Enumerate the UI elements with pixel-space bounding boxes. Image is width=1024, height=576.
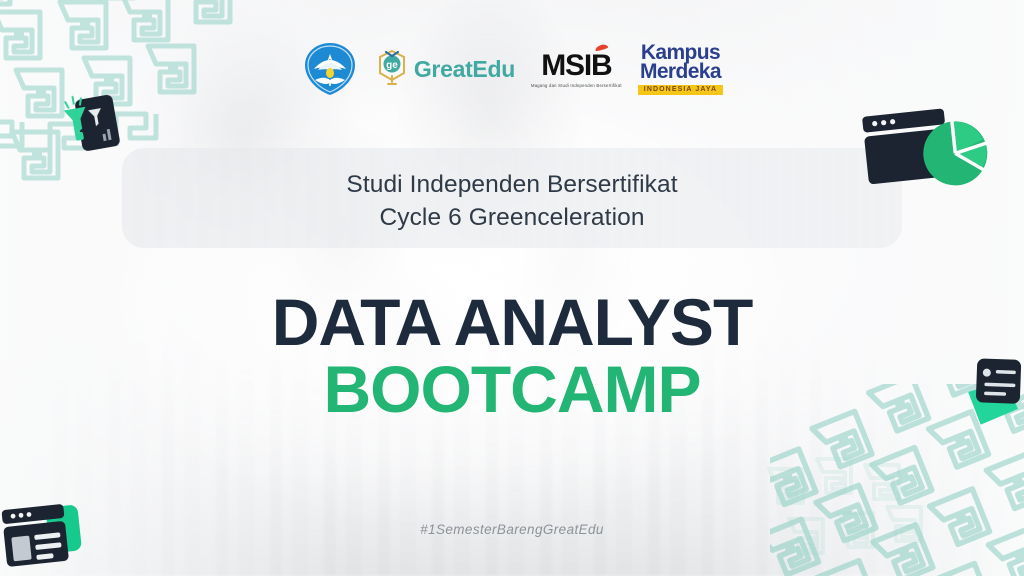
- subtitle-block: Studi Independen Bersertifikat Cycle 6 G…: [0, 168, 1024, 234]
- msib-label: MSIB: [541, 51, 611, 81]
- logo-msib: MSIB Magang dan Studi Independen Bersert…: [531, 51, 622, 88]
- greatedu-label: GreatEdu: [414, 56, 515, 83]
- headline-block: DATA ANALYST BOOTCAMP: [0, 288, 1024, 422]
- msib-wordmark: MSIB: [541, 49, 611, 82]
- kampus-merdeka-banner: INDONESIA JAYA: [638, 85, 723, 95]
- batik-pattern-bottom-right-faint: [766, 456, 946, 576]
- headline-line-2: BOOTCAMP: [0, 356, 1024, 422]
- poster-canvas: ge GreatEdu MSIB Magang dan Studi Indepe…: [0, 0, 1024, 576]
- subtitle-line-1: Studi Independen Bersertifikat: [0, 168, 1024, 201]
- subtitle-line-2: Cycle 6 Greenceleration: [0, 201, 1024, 234]
- greatedu-mark-icon: ge: [375, 48, 409, 90]
- logo-kampus-merdeka: Kampus Merdeka INDONESIA JAYA: [638, 43, 723, 95]
- kampus-merdeka-line2: Merdeka: [640, 62, 721, 81]
- svg-text:ge: ge: [386, 60, 398, 71]
- tut-wuri-handayani-icon: [301, 40, 359, 98]
- partner-logo-strip: ge GreatEdu MSIB Magang dan Studi Indepe…: [0, 40, 1024, 98]
- footer-hashtag: #1SemesterBarengGreatEdu: [0, 522, 1024, 537]
- logo-greatedu: ge GreatEdu: [375, 48, 515, 90]
- headline-line-1: DATA ANALYST: [0, 288, 1024, 356]
- msib-subtitle: Magang dan Studi Independen Bersertifika…: [531, 83, 622, 88]
- logo-kemendikbud: [301, 40, 359, 98]
